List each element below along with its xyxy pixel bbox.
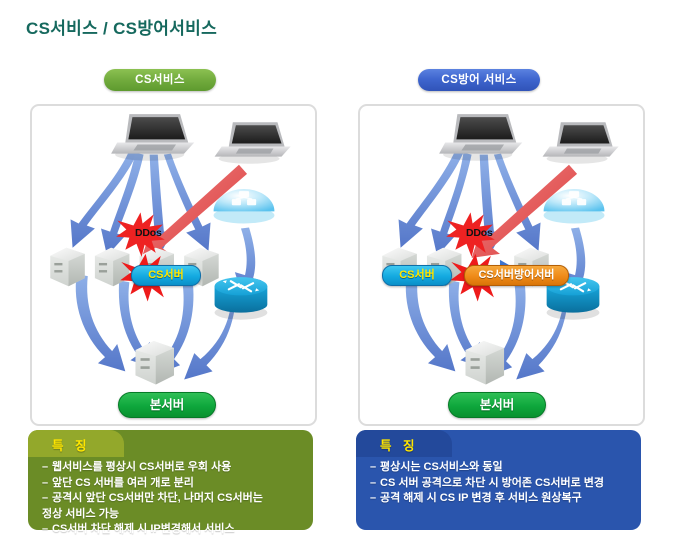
feature-tab-label-left: 특 징 (52, 435, 90, 454)
ddos-label: DDos (135, 227, 162, 239)
feature-item-text: CS서버 차단 해제 시 IP변경해서 서비스 (52, 523, 235, 535)
bullet-dash: – (42, 476, 52, 492)
column-header-cs-service: CS서비스 (104, 69, 216, 91)
feature-item-text: 웹서비스를 평상시 CS서버로 우회 사용 (52, 461, 231, 473)
bullet-dash: – (42, 491, 52, 507)
main-server-badge: 본서버 (448, 392, 546, 418)
feature-item: –평상시는 CS서비스와 동일 (370, 460, 631, 476)
feature-list-right: –평상시는 CS서비스와 동일 –CS 서버 공격으로 차단 시 방어존 CS서… (370, 460, 631, 507)
feature-item-text: CS 서버 공격으로 차단 시 방어존 CS서버로 변경 (380, 477, 604, 489)
main-server-badge: 본서버 (118, 392, 216, 418)
attacker-laptop-left (111, 114, 194, 161)
diagram-panel-cs-defense-service: DDos CS서버 CS서버방어서버 본서버 (358, 104, 645, 426)
feature-box-cs-defense-service: 특 징 –평상시는 CS서비스와 동일 –CS 서버 공격으로 차단 시 방어존… (356, 430, 641, 530)
feature-item-text: 평상시는 CS서비스와 동일 (380, 461, 503, 473)
feature-item: –CS 서버 공격으로 차단 시 방어존 CS서버로 변경 (370, 476, 631, 492)
feature-list-left: –웹서비스를 평상시 CS서버로 우회 사용 –앞단 CS 서버를 여러 개로 … (42, 460, 303, 538)
feature-tab-label-right: 특 징 (380, 435, 418, 454)
cs-defense-server-badge: CS서버방어서버 (464, 265, 569, 286)
feature-item-text: 공격시 앞단 CS서버만 차단, 나머지 CS서버는 정상 서비스 가능 (42, 492, 263, 520)
column-header-cs-defense-service: CS방어 서비스 (418, 69, 540, 91)
bullet-dash: – (42, 460, 52, 476)
feature-box-cs-service: 특 징 –웹서비스를 평상시 CS서버로 우회 사용 –앞단 CS 서버를 여러… (28, 430, 313, 530)
feature-item-text: 공격 해제 시 CS IP 변경 후 서비스 원상복구 (380, 492, 582, 504)
cs-server-badge: CS서버 (382, 265, 452, 286)
feature-item: –공격 해제 시 CS IP 변경 후 서비스 원상복구 (370, 491, 631, 507)
router-left (215, 277, 268, 320)
bullet-dash: – (370, 476, 380, 492)
feature-item-text: 앞단 CS 서버를 여러 개로 분리 (52, 477, 194, 489)
feature-item: –CS서버 차단 해제 시 IP변경해서 서비스 (42, 522, 303, 538)
feature-item: –앞단 CS 서버를 여러 개로 분리 (42, 476, 303, 492)
client-laptop-left (215, 122, 291, 164)
diagram-panel-cs-service: DDos CS서버 본서버 (30, 104, 317, 426)
ddos-label: DDos (466, 227, 493, 239)
bullet-dash: – (370, 491, 380, 507)
client-laptop-right (543, 122, 619, 164)
bullet-dash: – (42, 522, 52, 538)
main-server-icon-left (135, 341, 174, 385)
cs-server-badge: CS서버 (131, 265, 201, 286)
feature-item: –공격시 앞단 CS서버만 차단, 나머지 CS서버는 정상 서비스 가능 (42, 491, 303, 522)
feature-item: –웹서비스를 평상시 CS서버로 우회 사용 (42, 460, 303, 476)
bullet-dash: – (370, 460, 380, 476)
diagram-page: CS서비스 / CS방어서비스 CS서비스 CS방어 서비스 (0, 0, 680, 555)
page-title: CS서비스 / CS방어서비스 (26, 14, 217, 39)
main-server-icon-right (465, 341, 504, 385)
attacker-laptop-right (439, 114, 522, 161)
